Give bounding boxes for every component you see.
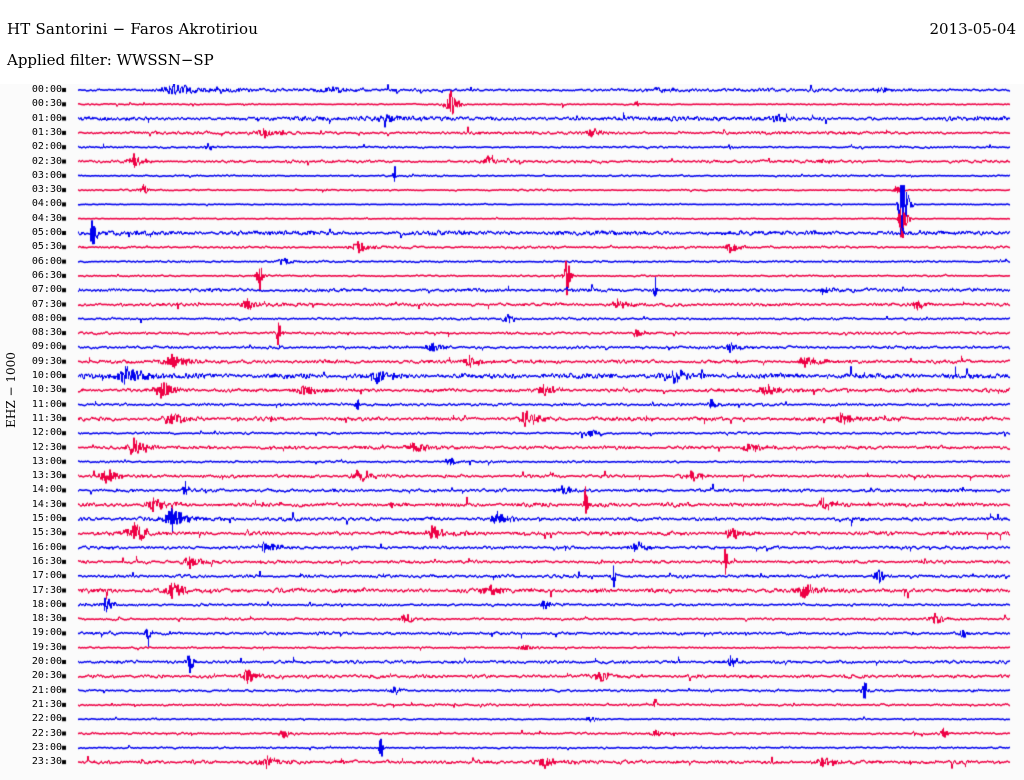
seismogram-traces: [0, 0, 1024, 780]
time-label: 20:30: [2, 671, 62, 681]
time-label: 13:30: [2, 471, 62, 481]
time-label: 03:00: [2, 171, 62, 181]
time-label: 14:00: [2, 485, 62, 495]
time-label: 08:00: [2, 314, 62, 324]
time-label: 00:30: [2, 99, 62, 109]
time-label: 22:30: [2, 729, 62, 739]
record-date: 2013-05-04: [930, 20, 1016, 38]
time-label: 04:30: [2, 214, 62, 224]
time-label: 06:30: [2, 271, 62, 281]
time-label: 21:30: [2, 700, 62, 710]
time-label: 02:30: [2, 157, 62, 167]
time-label: 14:30: [2, 500, 62, 510]
time-label: 10:00: [2, 371, 62, 381]
time-label: 05:00: [2, 228, 62, 238]
time-label: 01:00: [2, 114, 62, 124]
time-label: 18:30: [2, 614, 62, 624]
time-label: 04:00: [2, 199, 62, 209]
time-label: 21:00: [2, 686, 62, 696]
time-label: 18:00: [2, 600, 62, 610]
time-label: 16:00: [2, 543, 62, 553]
time-label: 07:00: [2, 285, 62, 295]
time-label: 07:30: [2, 300, 62, 310]
time-label: 08:30: [2, 328, 62, 338]
time-label: 19:30: [2, 643, 62, 653]
time-label: 09:00: [2, 342, 62, 352]
time-label: 12:00: [2, 428, 62, 438]
time-label: 17:00: [2, 571, 62, 581]
helicorder-plot: HT Santorini − Faros Akrotiriou 2013-05-…: [0, 0, 1024, 780]
time-label: 23:00: [2, 743, 62, 753]
time-label: 03:30: [2, 185, 62, 195]
time-label: 11:00: [2, 400, 62, 410]
time-label: 23:30: [2, 757, 62, 767]
time-label: 05:30: [2, 242, 62, 252]
plot-header: HT Santorini − Faros Akrotiriou 2013-05-…: [0, 0, 1024, 84]
time-label: 17:30: [2, 586, 62, 596]
time-label: 02:00: [2, 142, 62, 152]
time-label: 00:00: [2, 85, 62, 95]
time-label: 06:00: [2, 257, 62, 267]
time-label: 13:00: [2, 457, 62, 467]
time-label: 19:00: [2, 628, 62, 638]
time-label: 15:00: [2, 514, 62, 524]
time-label: 16:30: [2, 557, 62, 567]
time-label: 11:30: [2, 414, 62, 424]
time-label: 09:30: [2, 357, 62, 367]
time-label: 10:30: [2, 385, 62, 395]
time-axis: 00:0000:3001:0001:3002:0002:3003:0003:30…: [0, 0, 62, 780]
time-label: 22:00: [2, 714, 62, 724]
time-label: 15:30: [2, 528, 62, 538]
time-label: 01:30: [2, 128, 62, 138]
time-label: 12:30: [2, 443, 62, 453]
time-label: 20:00: [2, 657, 62, 667]
